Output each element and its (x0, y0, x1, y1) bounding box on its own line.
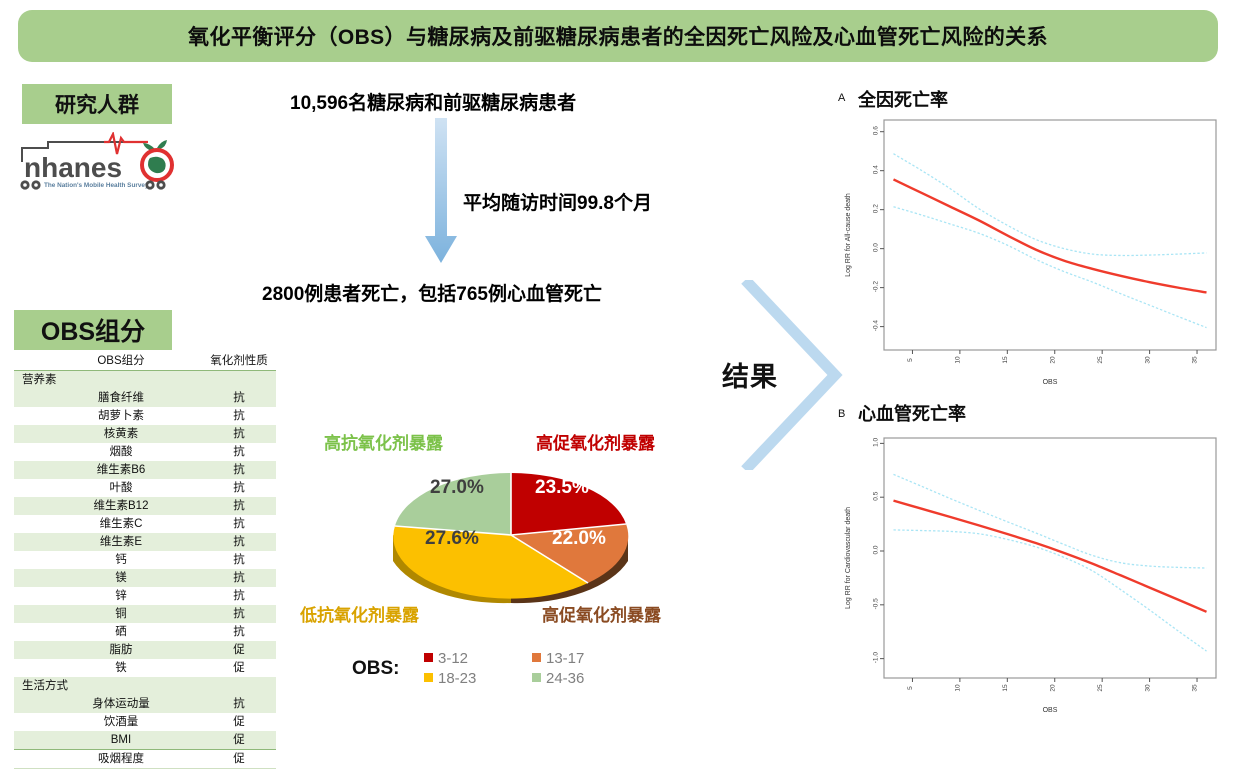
obs-distribution-pie-chart: 23.5% 22.0% 27.6% 27.0% 高促氧化剂暴露 高促氧化剂暴露 … (330, 425, 690, 635)
all-cause-mortality-chart: -0.4-0.20.00.20.40.65101520253035OBSLog … (838, 110, 1228, 390)
x-tick-label: 20 (1049, 356, 1056, 364)
plot-frame (884, 120, 1216, 350)
table-row: 饮酒量促 (14, 713, 276, 731)
x-tick-label: 35 (1192, 684, 1199, 692)
obs-components-table: OBS组分氧化剂性质营养素膳食纤维抗胡萝卜素抗核黄素抗烟酸抗维生素B6抗叶酸抗维… (14, 352, 276, 769)
legend-label-1: 13-17 (546, 650, 584, 667)
y-tick-label: 0.4 (873, 165, 880, 174)
table-cell-property: 促 (202, 641, 276, 659)
table-group-blank (202, 371, 276, 390)
table-cell-property: 抗 (202, 551, 276, 569)
table-row: 硒抗 (14, 623, 276, 641)
table-cell-property: 抗 (202, 497, 276, 515)
panel-a-letter: A (838, 92, 845, 104)
table-cell-property: 促 (202, 731, 276, 750)
panel-b-letter-wrap: B (838, 404, 845, 422)
table-cell-component: 镁 (14, 569, 202, 587)
plot-svg: -0.4-0.20.00.20.40.65101520253035OBSLog … (838, 110, 1228, 390)
panel-a-title: 全因死亡率 (858, 86, 948, 112)
title-banner: 氧化平衡评分（OBS）与糖尿病及前驱糖尿病患者的全因死亡风险及心血管死亡风险的关… (18, 10, 1218, 62)
pie-annotation-high-prooxidant-top: 高促氧化剂暴露 (536, 429, 655, 454)
nhanes-tagline: The Nation's Mobile Health Survey (44, 182, 149, 189)
y-tick-label: -0.5 (873, 598, 880, 610)
pie-legend: OBS: 3-12 13-17 18-23 24-36 (352, 648, 652, 692)
x-axis-label: OBS (1043, 379, 1058, 386)
table-row: 叶酸抗 (14, 479, 276, 497)
panel-b-title: 心血管死亡率 (858, 400, 966, 426)
legend-item-2[interactable]: 18-23 (424, 670, 476, 687)
table-row: 脂肪促 (14, 641, 276, 659)
table-row: 膳食纤维抗 (14, 389, 276, 407)
page-title: 氧化平衡评分（OBS）与糖尿病及前驱糖尿病患者的全因死亡风险及心血管死亡风险的关… (188, 21, 1048, 51)
table-group-blank (202, 677, 276, 695)
pie-annotation-high-prooxidant-bottom: 高促氧化剂暴露 (542, 601, 661, 626)
panel-b-letter: B (838, 408, 845, 420)
legend-label-2: 18-23 (438, 670, 476, 687)
y-tick-label: 0.0 (873, 243, 880, 252)
table-cell-property: 抗 (202, 623, 276, 641)
x-tick-label: 35 (1192, 356, 1199, 364)
section-chip-population: 研究人群 (22, 84, 172, 124)
y-tick-label: 0.0 (873, 545, 880, 554)
table-cell-component: 维生素B12 (14, 497, 202, 515)
x-axis-label: OBS (1043, 707, 1058, 714)
table-cell-property: 促 (202, 659, 276, 677)
table-row: 维生素B12抗 (14, 497, 276, 515)
y-tick-label: -1.0 (873, 652, 880, 664)
table-cell-component: 饮酒量 (14, 713, 202, 731)
table-row: 维生素B6抗 (14, 461, 276, 479)
x-tick-label: 5 (907, 358, 914, 362)
table-group-label: 生活方式 (14, 677, 202, 695)
table-row: 核黄素抗 (14, 425, 276, 443)
pie-legend-title: OBS: (352, 658, 400, 680)
table-row: BMI促 (14, 731, 276, 750)
legend-swatch-0 (424, 653, 433, 662)
table-cell-component: 铁 (14, 659, 202, 677)
legend-swatch-3 (532, 673, 541, 682)
y-tick-label: 1.0 (873, 437, 880, 446)
table-cell-component: 维生素B6 (14, 461, 202, 479)
table-cell-component: 钙 (14, 551, 202, 569)
table-cell-property: 抗 (202, 479, 276, 497)
legend-swatch-2 (424, 673, 433, 682)
table-cell-property: 抗 (202, 569, 276, 587)
table-cell-component: 烟酸 (14, 443, 202, 461)
plot-svg: -1.0-0.50.00.51.05101520253035OBSLog RR … (838, 428, 1228, 718)
pie-value-0: 23.5% (535, 477, 589, 499)
table-row: 锌抗 (14, 587, 276, 605)
flow-cohort-text: 10,596名糖尿病和前驱糖尿病患者 (290, 88, 576, 115)
nhanes-logo: nhanes The Nation's Mobile Health Survey (18, 132, 186, 194)
obs-table-body: OBS组分氧化剂性质营养素膳食纤维抗胡萝卜素抗核黄素抗烟酸抗维生素B6抗叶酸抗维… (14, 352, 276, 769)
pie-value-1: 22.0% (552, 528, 606, 550)
table-cell-component: 身体运动量 (14, 695, 202, 713)
legend-label-3: 24-36 (546, 670, 584, 687)
pie-value-2: 27.6% (425, 528, 479, 550)
x-tick-label: 15 (1002, 356, 1009, 364)
y-tick-label: 0.6 (873, 126, 880, 135)
flow-followup-text: 平均随访时间99.8个月 (463, 188, 652, 215)
table-row: 胡萝卜素抗 (14, 407, 276, 425)
y-axis-label: Log RR for Cardiovascular death (845, 507, 852, 609)
table-row: 钙抗 (14, 551, 276, 569)
table-cell-property: 抗 (202, 515, 276, 533)
table-header-property: 氧化剂性质 (202, 352, 276, 371)
table-cell-property: 抗 (202, 443, 276, 461)
table-row: 铁促 (14, 659, 276, 677)
legend-item-0[interactable]: 3-12 (424, 650, 468, 667)
table-cell-property: 抗 (202, 587, 276, 605)
y-tick-label: 0.5 (873, 491, 880, 500)
table-cell-property: 抗 (202, 533, 276, 551)
table-cell-component: 叶酸 (14, 479, 202, 497)
table-row: 铜抗 (14, 605, 276, 623)
table-group-label: 营养素 (14, 371, 202, 390)
y-tick-label: 0.2 (873, 204, 880, 213)
flow-deaths-text: 2800例患者死亡，包括765例心血管死亡 (262, 279, 602, 306)
table-group-row: 营养素 (14, 371, 276, 390)
table-cell-component: 锌 (14, 587, 202, 605)
table-cell-property: 促 (202, 750, 276, 769)
section-chip-obs-label: OBS组分 (41, 312, 145, 348)
table-row: 吸烟程度促 (14, 750, 276, 769)
table-cell-component: 脂肪 (14, 641, 202, 659)
legend-item-1[interactable]: 13-17 (532, 650, 584, 667)
table-cell-component: 硒 (14, 623, 202, 641)
table-cell-property: 促 (202, 713, 276, 731)
legend-swatch-1 (532, 653, 541, 662)
table-cell-property: 抗 (202, 407, 276, 425)
x-tick-label: 10 (955, 684, 962, 692)
pie-value-3: 27.0% (430, 477, 484, 499)
x-tick-label: 25 (1097, 684, 1104, 692)
y-tick-label: -0.4 (873, 320, 880, 332)
table-header-row: OBS组分氧化剂性质 (14, 352, 276, 371)
table-cell-component: 吸烟程度 (14, 750, 202, 769)
down-arrow-icon (423, 118, 459, 268)
table-cell-component: 膳食纤维 (14, 389, 202, 407)
section-chip-population-label: 研究人群 (55, 89, 139, 119)
table-cell-property: 抗 (202, 461, 276, 479)
table-cell-component: 铜 (14, 605, 202, 623)
x-tick-label: 15 (1002, 684, 1009, 692)
y-axis-label: Log RR for All-cause death (845, 193, 852, 277)
table-row: 烟酸抗 (14, 443, 276, 461)
x-tick-label: 10 (955, 356, 962, 364)
x-tick-label: 30 (1144, 356, 1151, 364)
table-group-row: 生活方式 (14, 677, 276, 695)
results-label: 结果 (722, 355, 778, 394)
svg-text:nhanes: nhanes (24, 152, 122, 183)
table-cell-component: BMI (14, 731, 202, 750)
table-cell-property: 抗 (202, 389, 276, 407)
legend-label-0: 3-12 (438, 650, 468, 667)
x-tick-label: 25 (1097, 356, 1104, 364)
x-tick-label: 20 (1049, 684, 1056, 692)
pie-annotation-low-antioxidant: 低抗氧化剂暴露 (300, 601, 419, 626)
plot-frame (884, 438, 1216, 678)
legend-item-3[interactable]: 24-36 (532, 670, 584, 687)
table-cell-component: 维生素C (14, 515, 202, 533)
table-row: 维生素E抗 (14, 533, 276, 551)
table-cell-component: 胡萝卜素 (14, 407, 202, 425)
table-cell-property: 抗 (202, 605, 276, 623)
cardiovascular-mortality-chart: -1.0-0.50.00.51.05101520253035OBSLog RR … (838, 428, 1228, 718)
pie-annotation-high-antioxidant: 高抗氧化剂暴露 (324, 429, 443, 454)
table-row: 维生素C抗 (14, 515, 276, 533)
table-cell-property: 抗 (202, 695, 276, 713)
table-row: 身体运动量抗 (14, 695, 276, 713)
x-tick-label: 5 (907, 686, 914, 690)
table-cell-property: 抗 (202, 425, 276, 443)
x-tick-label: 30 (1144, 684, 1151, 692)
y-tick-label: -0.2 (873, 281, 880, 293)
table-row: 镁抗 (14, 569, 276, 587)
table-cell-component: 维生素E (14, 533, 202, 551)
table-header-component: OBS组分 (14, 352, 202, 371)
panel-a-letter-wrap: A (838, 88, 845, 106)
section-chip-obs: OBS组分 (14, 310, 172, 350)
table-cell-component: 核黄素 (14, 425, 202, 443)
